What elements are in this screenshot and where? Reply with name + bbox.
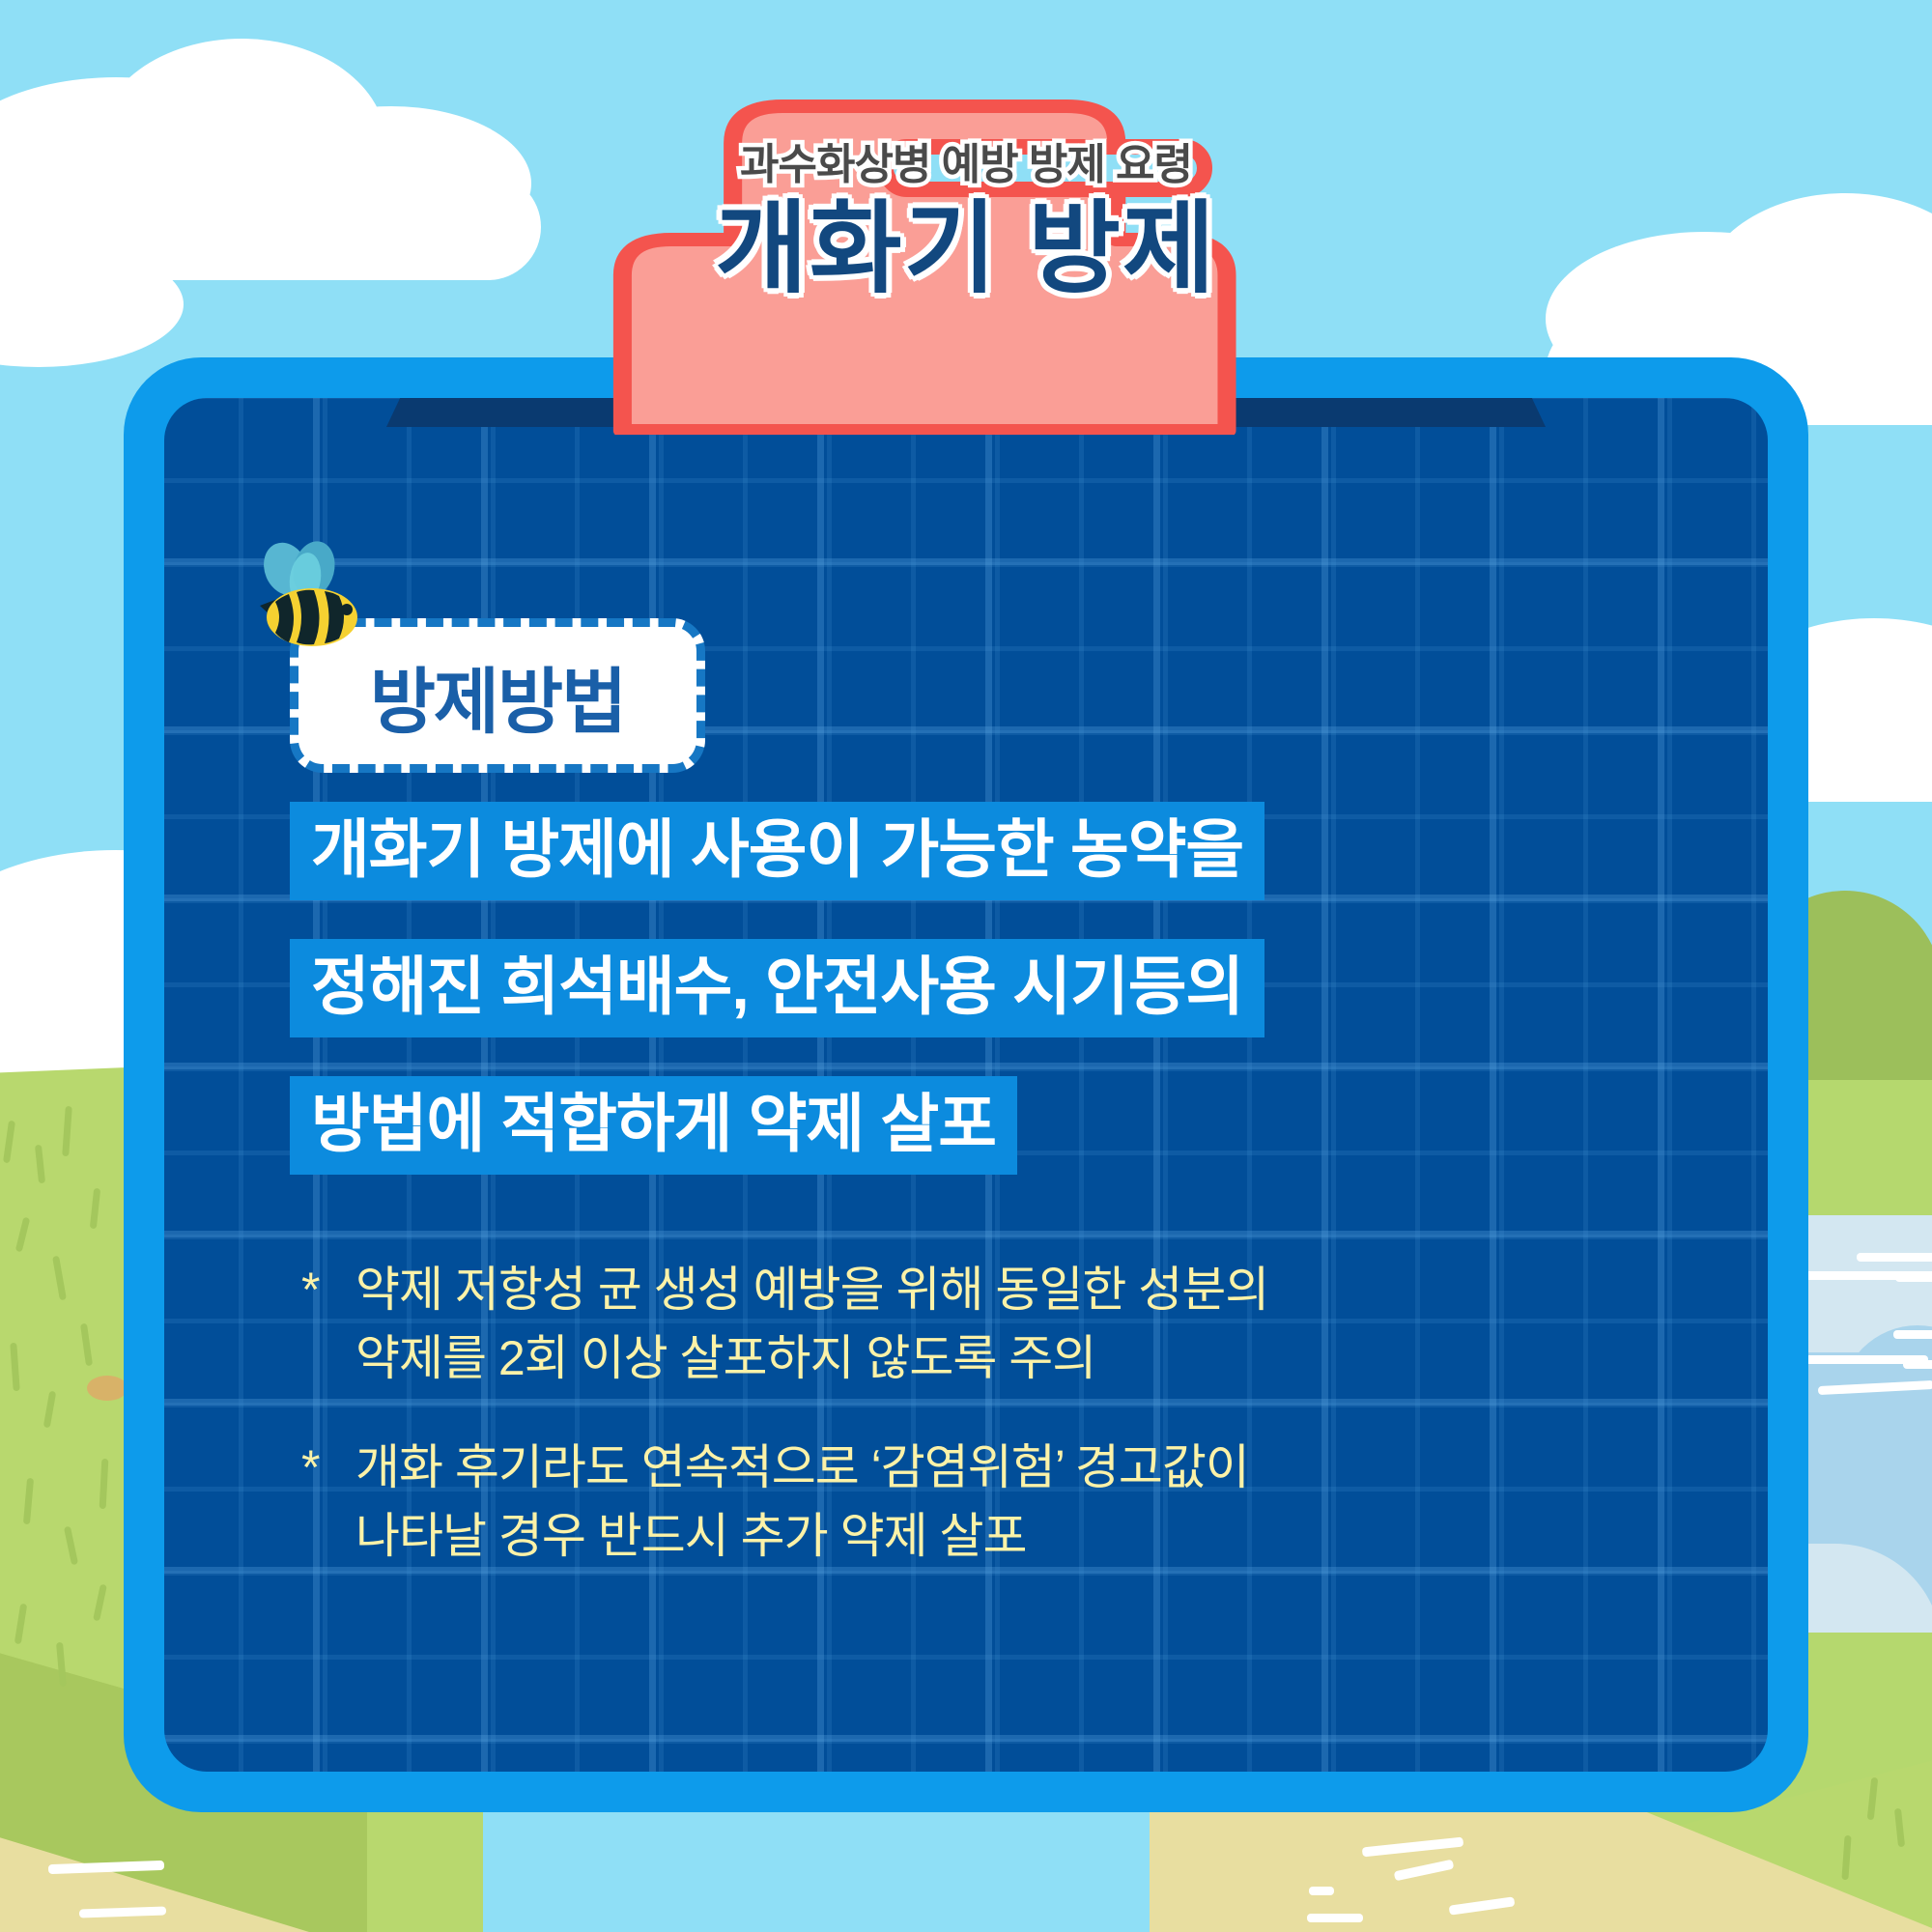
poster-canvas: 과수화상병 예방 방제 요령 개화기 방제 방제방법 개화기 방제에 사용이 가… — [0, 0, 1932, 1932]
dirt-patch-left — [87, 1376, 128, 1401]
headline-text: 정해진 희석배수, 안전사용 시기등의 — [290, 939, 1264, 1037]
note-line: 나타날 경우 반드시 추가 약제 살포 — [355, 1502, 1268, 1571]
headline-row: 정해진 희석배수, 안전사용 시기등의 — [290, 939, 1264, 1076]
clipboard-clip — [464, 97, 1468, 435]
bee-icon — [246, 536, 372, 662]
headline-row: 개화기 방제에 사용이 가능한 농약을 — [290, 802, 1264, 939]
headline-text: 개화기 방제에 사용이 가능한 농약을 — [290, 802, 1264, 900]
road-dash — [1309, 1887, 1334, 1895]
note-list: * 약제 저항성 균 생성 예방을 위해 동일한 성분의 약제를 2회 이상 살… — [301, 1256, 1268, 1611]
water-ripple — [1857, 1253, 1932, 1262]
water-ripple — [1893, 1330, 1932, 1339]
note-body: 약제 저항성 균 생성 예방을 위해 동일한 성분의 약제를 2회 이상 살포하… — [355, 1256, 1268, 1393]
note-marker: * — [301, 1256, 355, 1393]
headline-text: 방법에 적합하게 약제 살포 — [290, 1076, 1017, 1175]
note-line: 개화 후기라도 연속적으로 ‘감염위험’ 경고값이 — [355, 1434, 1268, 1502]
note-item: * 개화 후기라도 연속적으로 ‘감염위험’ 경고값이 나타날 경우 반드시 추… — [301, 1434, 1268, 1571]
water-ripple — [1903, 1360, 1932, 1369]
note-line: 약제 저항성 균 생성 예방을 위해 동일한 성분의 — [355, 1256, 1268, 1324]
note-item: * 약제 저항성 균 생성 예방을 위해 동일한 성분의 약제를 2회 이상 살… — [301, 1256, 1268, 1393]
water-ripple — [1895, 1273, 1932, 1282]
note-body: 개화 후기라도 연속적으로 ‘감염위험’ 경고값이 나타날 경우 반드시 추가 … — [355, 1434, 1268, 1571]
headline-list: 개화기 방제에 사용이 가능한 농약을 정해진 희석배수, 안전사용 시기등의 … — [290, 802, 1264, 1213]
note-marker: * — [301, 1434, 355, 1571]
road-dash — [1307, 1914, 1363, 1922]
section-badge-label: 방제방법 — [370, 644, 625, 748]
note-line: 약제를 2회 이상 살포하지 않도록 주의 — [355, 1324, 1268, 1393]
headline-row: 방법에 적합하게 약제 살포 — [290, 1076, 1264, 1213]
